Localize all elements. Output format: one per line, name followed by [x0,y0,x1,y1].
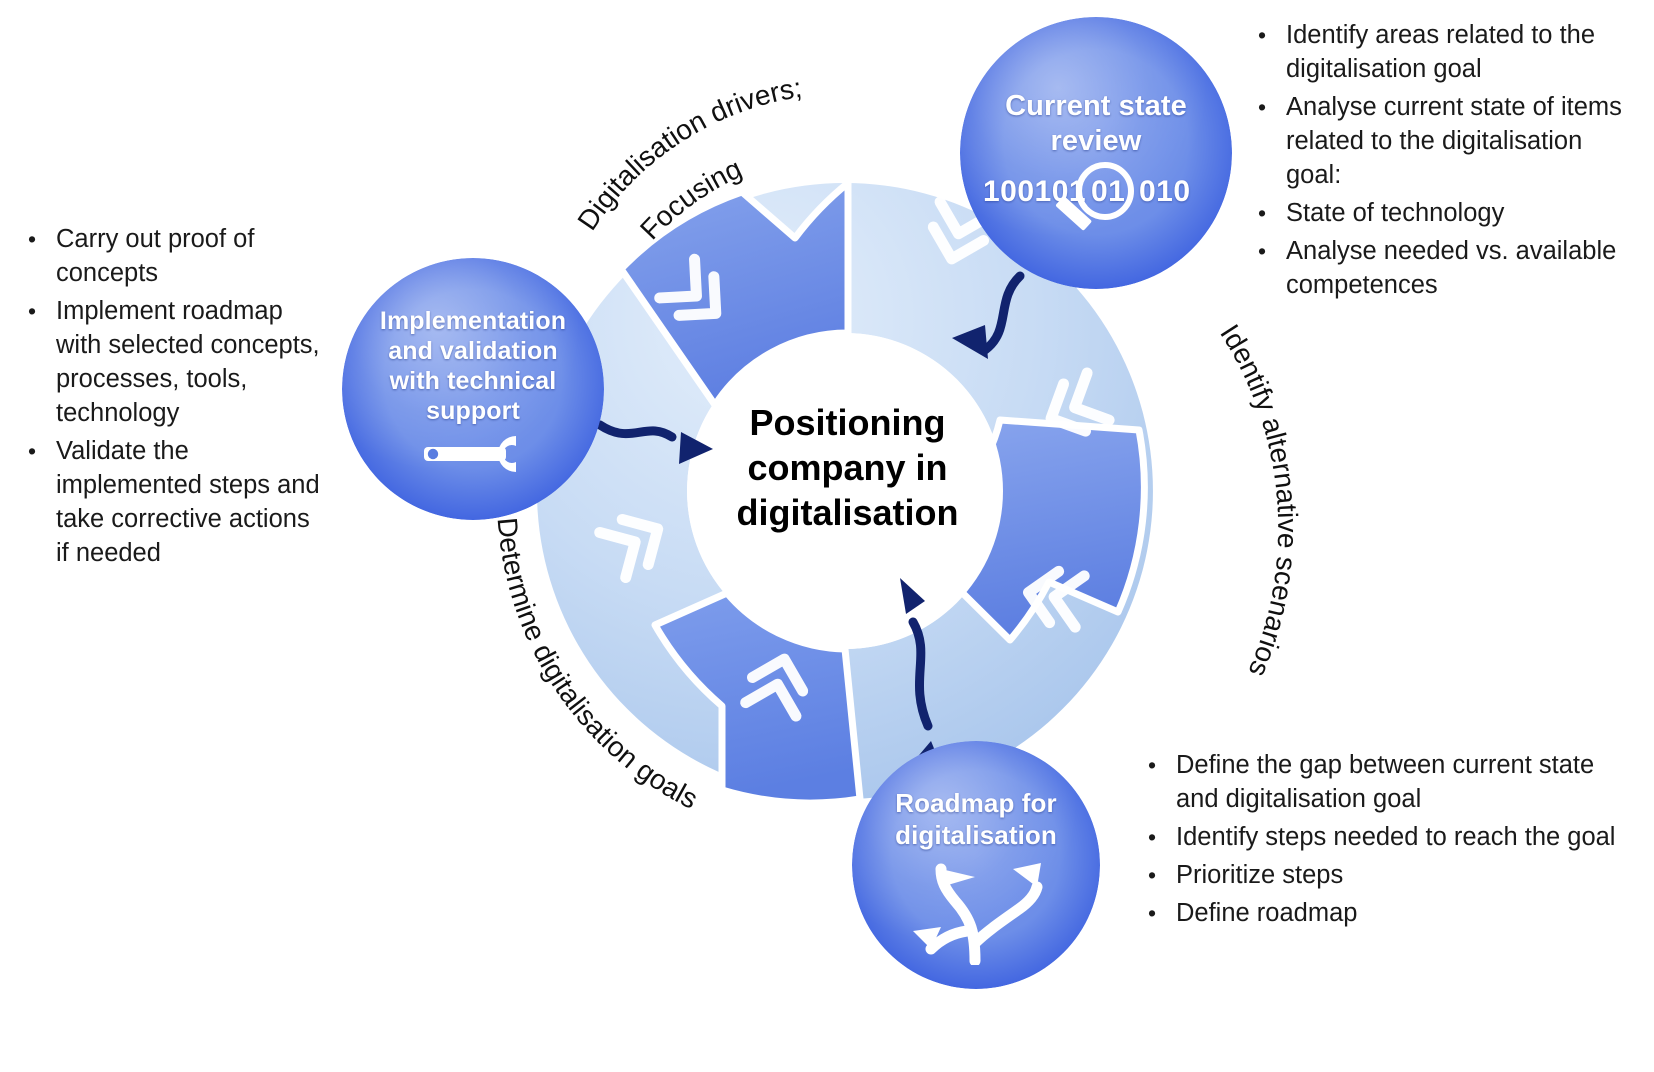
list-item: Carry out proof of concepts [22,222,322,290]
magnifier-binary-icon: 100101 01 010 [960,167,1232,261]
list-item: Validate the implemented steps and take … [22,434,322,570]
node-implementation-title-line2: and validation [342,336,604,366]
node-roadmap-title-line1: Roadmap for [852,787,1100,819]
node-implementation-title-line4: support [342,396,604,426]
list-item: State of technology [1252,196,1642,230]
binary-after: 010 [1139,175,1191,208]
binary-magnified: 01 [1091,175,1125,208]
node-current-state-title-line1: Current state [960,89,1232,124]
bullet-list: Carry out proof of concepts Implement ro… [22,222,322,570]
wrench-icon [342,432,604,483]
centre-label-line1: Positioning [705,400,990,445]
node-roadmap-for-digitalisation[interactable]: Roadmap for digitalisation [852,741,1100,989]
ring-label-right: Identify alternative scenarios [1214,319,1303,682]
centre-label: Positioning company in digitalisation [705,400,990,535]
list-item: Identify steps needed to reach the goal [1142,820,1642,854]
bullet-list: Define the gap between current state and… [1142,748,1642,930]
list-item: Define roadmap [1142,896,1642,930]
bullet-list-roadmap-for-digitalisation: Define the gap between current state and… [1142,748,1642,934]
diagram-canvas: Digitalisation drivers; Focusing Identif… [0,0,1654,1072]
node-current-state-title-line2: review [960,124,1232,159]
node-implementation-title-line3: with technical [342,366,604,396]
node-implementation-and-validation[interactable]: Implementation and validation with techn… [342,258,604,520]
centre-label-line2: company in [705,445,990,490]
list-item: Analyse current state of items related t… [1252,90,1642,192]
centre-label-line3: digitalisation [705,490,990,535]
bullet-list-current-state-review: Identify areas related to the digitalisa… [1252,18,1642,306]
list-item: Implement roadmap with selected concepts… [22,294,322,430]
node-implementation-title-line1: Implementation [342,306,604,336]
list-item: Analyse needed vs. available competences [1252,234,1642,302]
bullet-list: Identify areas related to the digitalisa… [1252,18,1642,302]
list-item: Prioritize steps [1142,858,1642,892]
bullet-list-implementation-and-validation: Carry out proof of concepts Implement ro… [22,222,322,574]
list-item: Define the gap between current state and… [1142,748,1642,816]
node-current-state-review[interactable]: Current state review 100101 01 010 [960,17,1232,289]
roadmap-fork-icon [852,857,1100,972]
list-item: Identify areas related to the digitalisa… [1252,18,1642,86]
node-roadmap-title-line2: digitalisation [852,819,1100,851]
